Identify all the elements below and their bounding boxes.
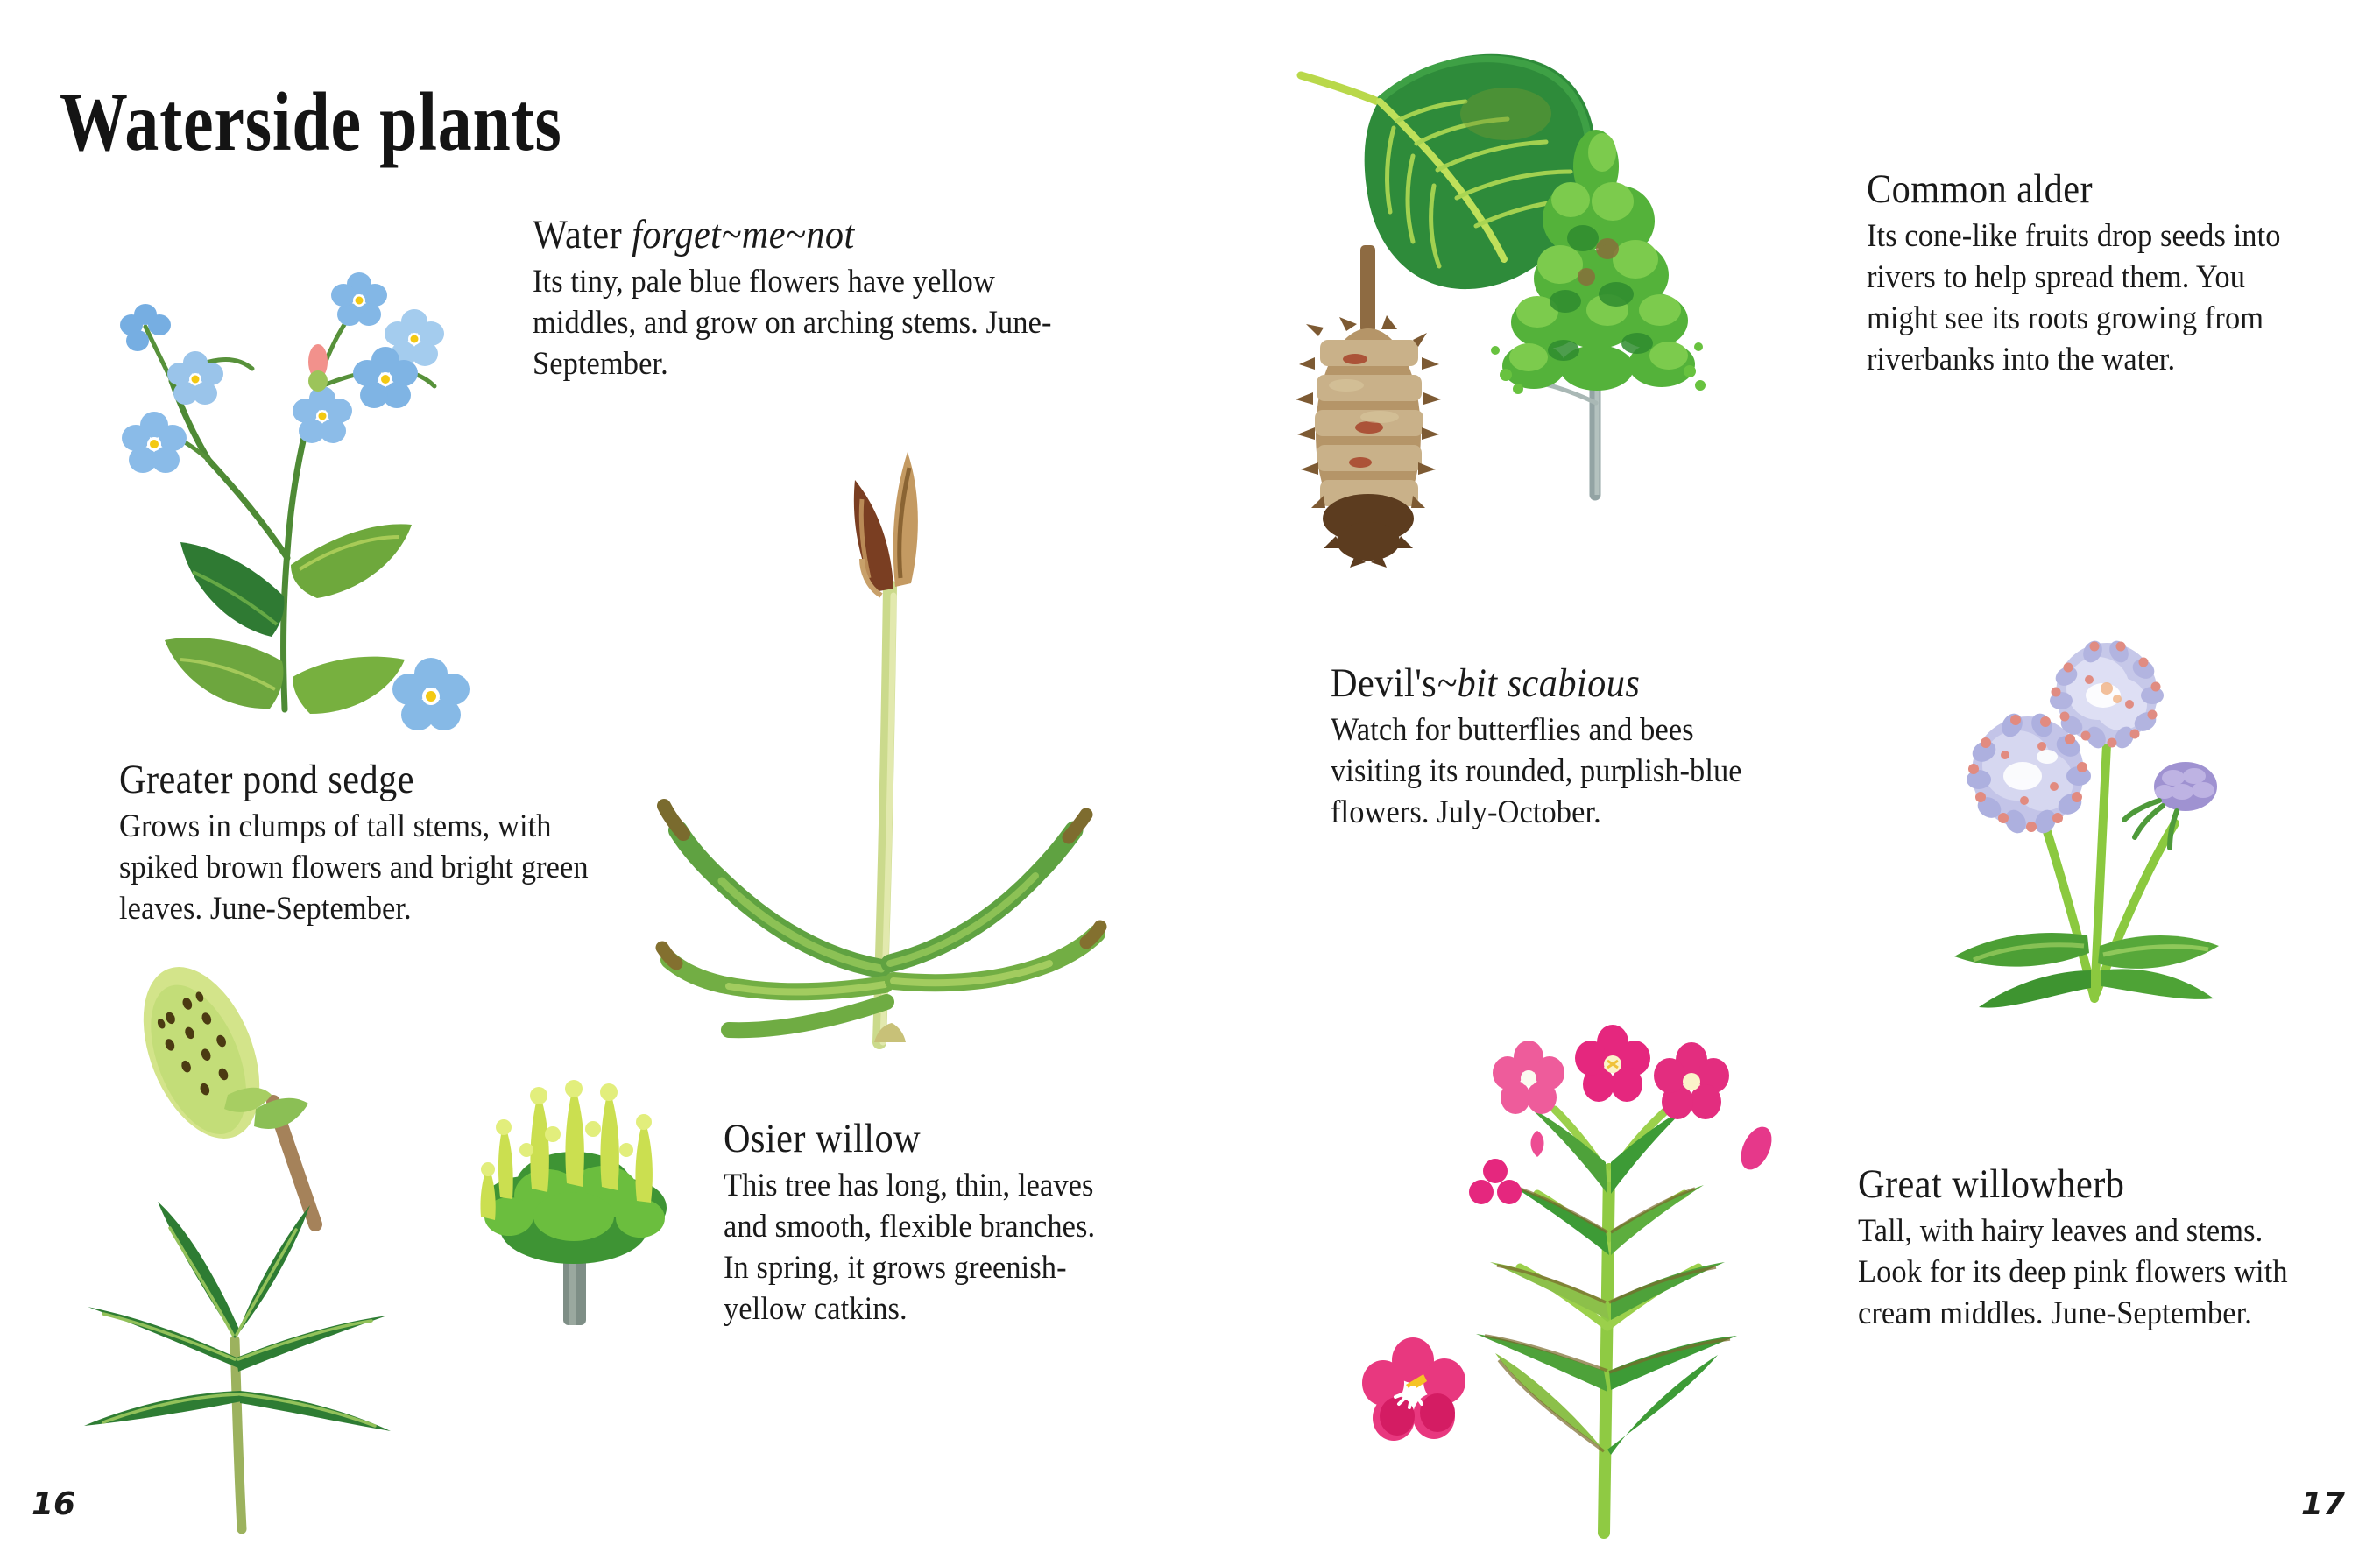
illustration-alder-tree	[1480, 88, 1716, 499]
entry-body-great-willowherb: Tall, with hairy leaves and stems. Look …	[1858, 1211, 2314, 1335]
entry-title-great-willowherb: Great willowherb	[1858, 1163, 2299, 1206]
entry-body-greater-pond-sedge: Grows in clumps of tall stems, with spik…	[119, 807, 625, 930]
entry-body-common-alder: Its cone-like fruits drop seeds into riv…	[1867, 216, 2323, 381]
illustration-forget-me-not	[96, 153, 473, 714]
illustration-pond-sedge-tall	[648, 438, 1104, 1042]
entry-title-water-forget-me-not: Water forget~me~not	[533, 214, 1061, 257]
illustration-devils-bit-scabious	[1900, 455, 2320, 1007]
entry-title-common-alder: Common alder	[1867, 168, 2308, 211]
entry-common-alder: Common alder Its cone-like fruits drop s…	[1867, 168, 2357, 381]
entry-greater-pond-sedge: Greater pond sedge Grows in clumps of ta…	[119, 758, 662, 930]
illustration-alder-cone	[1285, 236, 1451, 569]
entry-water-forget-me-not: Water forget~me~not Its tiny, pale blue …	[533, 214, 1119, 385]
entry-body-devils-bit-scabious: Watch for butterflies and bees visiting …	[1331, 710, 1755, 834]
illustration-osier-willow	[442, 1003, 705, 1327]
page-title: Waterside plants	[60, 81, 562, 164]
left-page: Waterside plants	[0, 0, 1190, 1552]
illustration-sedge-spike-and-leaves	[53, 972, 508, 1541]
entry-osier-willow: Osier willow This tree has long, thin, l…	[724, 1118, 1135, 1330]
entry-title-osier-willow: Osier willow	[724, 1118, 1094, 1160]
page-number-right: 17	[2301, 1486, 2345, 1522]
right-page: Common alder Its cone-like fruits drop s…	[1190, 0, 2380, 1552]
entry-devils-bit-scabious: Devil's~bit scabious Watch for butterfli…	[1331, 662, 1786, 834]
entry-title-devils-bit-scabious: Devil's~bit scabious	[1331, 662, 1741, 705]
entry-body-water-forget-me-not: Its tiny, pale blue flowers have yellow …	[533, 262, 1078, 385]
entry-body-osier-willow: This tree has long, thin, leaves and smo…	[724, 1166, 1106, 1330]
page-number-left: 16	[32, 1486, 75, 1522]
entry-title-greater-pond-sedge: Greater pond sedge	[119, 758, 608, 801]
illustration-great-willowherb	[1366, 959, 1821, 1537]
entry-great-willowherb: Great willowherb Tall, with hairy leaves…	[1858, 1163, 2348, 1335]
